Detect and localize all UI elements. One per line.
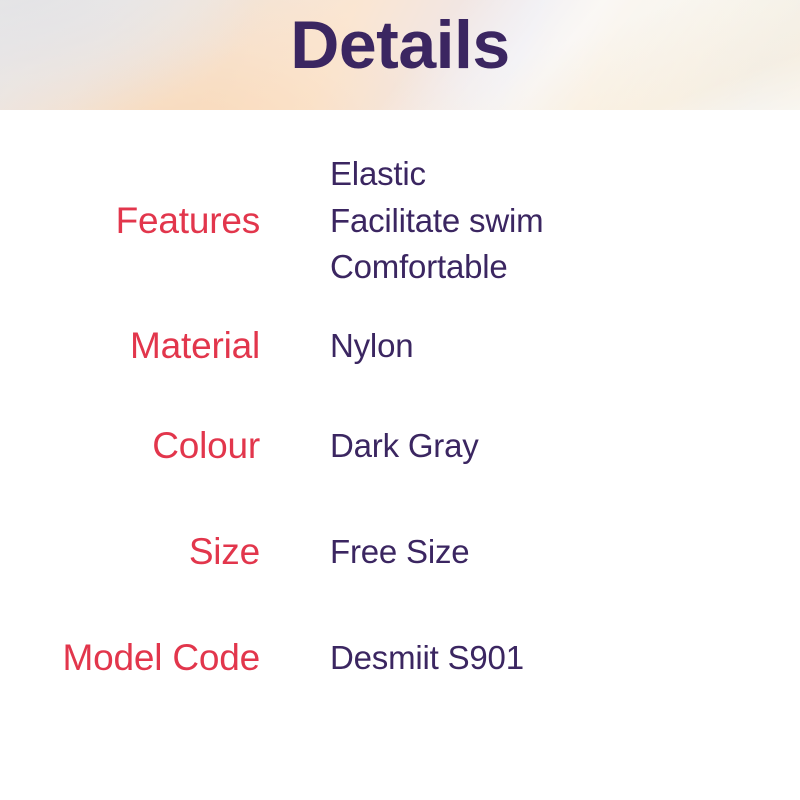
spec-value-line: Elastic <box>330 151 800 198</box>
spec-label-colour: Colour <box>152 424 260 468</box>
header-banner: Details <box>0 0 800 110</box>
spec-value-colour: Dark Gray <box>330 423 800 470</box>
spec-value-line: Dark Gray <box>330 423 800 470</box>
spec-label-cell-size: Size <box>0 530 260 574</box>
spec-label-material: Material <box>130 324 260 368</box>
spec-label-cell-features: Features <box>0 199 260 243</box>
spec-value-size: Free Size <box>330 529 800 576</box>
spec-row-size: Size Free Size <box>0 496 800 608</box>
spec-value-cell-colour: Dark Gray <box>260 423 800 470</box>
spec-label-cell-material: Material <box>0 324 260 368</box>
product-details-page: Details Features Elastic Facilitate swim… <box>0 0 800 800</box>
spec-value-line: Desmiit S901 <box>330 635 800 682</box>
spec-row-material: Material Nylon <box>0 296 800 396</box>
spec-value-cell-size: Free Size <box>260 529 800 576</box>
spec-row-features: Features Elastic Facilitate swim Comfort… <box>0 146 800 296</box>
spec-value-model-code: Desmiit S901 <box>330 635 800 682</box>
spec-value-line: Comfortable <box>330 244 800 291</box>
spec-value-cell-model-code: Desmiit S901 <box>260 635 800 682</box>
spec-value-cell-features: Elastic Facilitate swim Comfortable <box>260 151 800 292</box>
spec-label-features: Features <box>116 199 260 243</box>
spec-label-cell-colour: Colour <box>0 424 260 468</box>
spec-label-cell-model-code: Model Code <box>0 636 260 680</box>
spec-row-colour: Colour Dark Gray <box>0 396 800 496</box>
spec-value-cell-material: Nylon <box>260 323 800 370</box>
spec-value-line: Free Size <box>330 529 800 576</box>
spec-value-line: Nylon <box>330 323 800 370</box>
spec-row-model-code: Model Code Desmiit S901 <box>0 608 800 708</box>
page-title: Details <box>0 11 800 79</box>
spec-label-size: Size <box>189 530 260 574</box>
spec-label-model-code: Model Code <box>62 636 260 680</box>
spec-value-material: Nylon <box>330 323 800 370</box>
spec-value-line: Facilitate swim <box>330 198 800 245</box>
spec-value-features: Elastic Facilitate swim Comfortable <box>330 151 800 292</box>
specifications-table: Features Elastic Facilitate swim Comfort… <box>0 110 800 708</box>
